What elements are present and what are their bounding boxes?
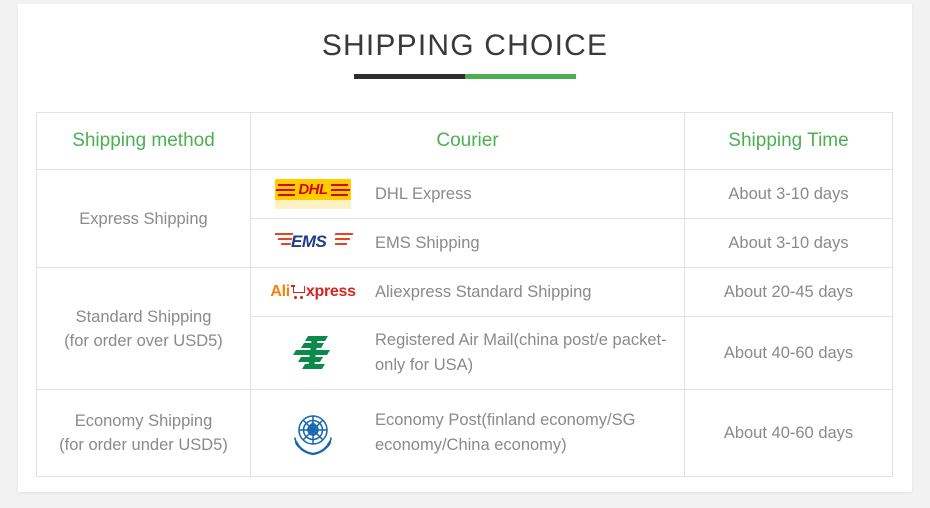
courier-label: DHL Express bbox=[375, 182, 482, 207]
ems-logo: EMS bbox=[251, 228, 375, 258]
dhl-logo: DHL EXPRESS bbox=[251, 179, 375, 209]
un-emblem-logo bbox=[251, 404, 375, 462]
shipping-info-card: SHIPPING CHOICE Shipping method Courier … bbox=[18, 4, 912, 492]
courier-cell-china-post: Registered Air Mail(china post/e packet-… bbox=[251, 317, 685, 390]
ems-logo-wordmark: EMS bbox=[291, 232, 326, 252]
method-label: Express Shipping bbox=[37, 207, 250, 231]
table-row: Economy Shipping (for order under USD5) bbox=[37, 390, 893, 477]
column-header-shipping-method: Shipping method bbox=[37, 113, 251, 170]
courier-label: Aliexpress Standard Shipping bbox=[375, 280, 601, 305]
courier-label: Registered Air Mail(china post/e packet-… bbox=[375, 328, 684, 378]
method-cell-standard: Standard Shipping (for order over USD5) bbox=[37, 268, 251, 390]
title-underline bbox=[354, 74, 576, 79]
courier-cell-dhl: DHL EXPRESS DHL Express bbox=[251, 170, 685, 219]
method-note: (for order under USD5) bbox=[37, 433, 250, 457]
column-header-shipping-time: Shipping Time bbox=[685, 113, 893, 170]
courier-cell-ems: EMS EMS Shipping bbox=[251, 219, 685, 268]
aliexpress-logo: Ali xpress bbox=[251, 283, 375, 301]
shipping-time-cell: About 40-60 days bbox=[685, 317, 893, 390]
courier-label: EMS Shipping bbox=[375, 231, 490, 256]
courier-label: Economy Post(finland economy/SG economy/… bbox=[375, 408, 684, 458]
title-underline-dark-segment bbox=[354, 74, 465, 79]
table-row: Express Shipping DHL EXPRESS bbox=[37, 170, 893, 219]
aliexpress-logo-wordmark-ali: Ali bbox=[270, 283, 290, 301]
courier-cell-economy-post: Economy Post(finland economy/SG economy/… bbox=[251, 390, 685, 477]
method-label: Economy Shipping bbox=[37, 409, 250, 433]
shipping-time-cell: About 40-60 days bbox=[685, 390, 893, 477]
shipping-time-cell: About 20-45 days bbox=[685, 268, 893, 317]
courier-cell-aliexpress: Ali xpress Aliexpress Standard Shipping bbox=[251, 268, 685, 317]
title-underline-green-segment bbox=[465, 74, 576, 79]
dhl-logo-wordmark: DHL bbox=[275, 181, 351, 198]
aliexpress-logo-wordmark-xpress: xpress bbox=[306, 283, 356, 301]
page-title: SHIPPING CHOICE bbox=[18, 28, 912, 64]
china-post-logo bbox=[251, 330, 375, 376]
method-label: Standard Shipping bbox=[37, 305, 250, 329]
shipping-time-cell: About 3-10 days bbox=[685, 219, 893, 268]
column-header-courier: Courier bbox=[251, 113, 685, 170]
method-cell-express: Express Shipping bbox=[37, 170, 251, 268]
china-post-emblem-icon bbox=[290, 330, 336, 376]
united-nations-emblem-icon bbox=[284, 404, 342, 462]
page-title-block: SHIPPING CHOICE bbox=[18, 28, 912, 79]
table-header-row: Shipping method Courier Shipping Time bbox=[37, 113, 893, 170]
table-row: Standard Shipping (for order over USD5) … bbox=[37, 268, 893, 317]
shipping-table: Shipping method Courier Shipping Time Ex… bbox=[36, 112, 893, 477]
method-cell-economy: Economy Shipping (for order under USD5) bbox=[37, 390, 251, 477]
shipping-time-cell: About 3-10 days bbox=[685, 170, 893, 219]
shopping-cart-icon bbox=[291, 285, 306, 299]
method-note: (for order over USD5) bbox=[37, 329, 250, 353]
